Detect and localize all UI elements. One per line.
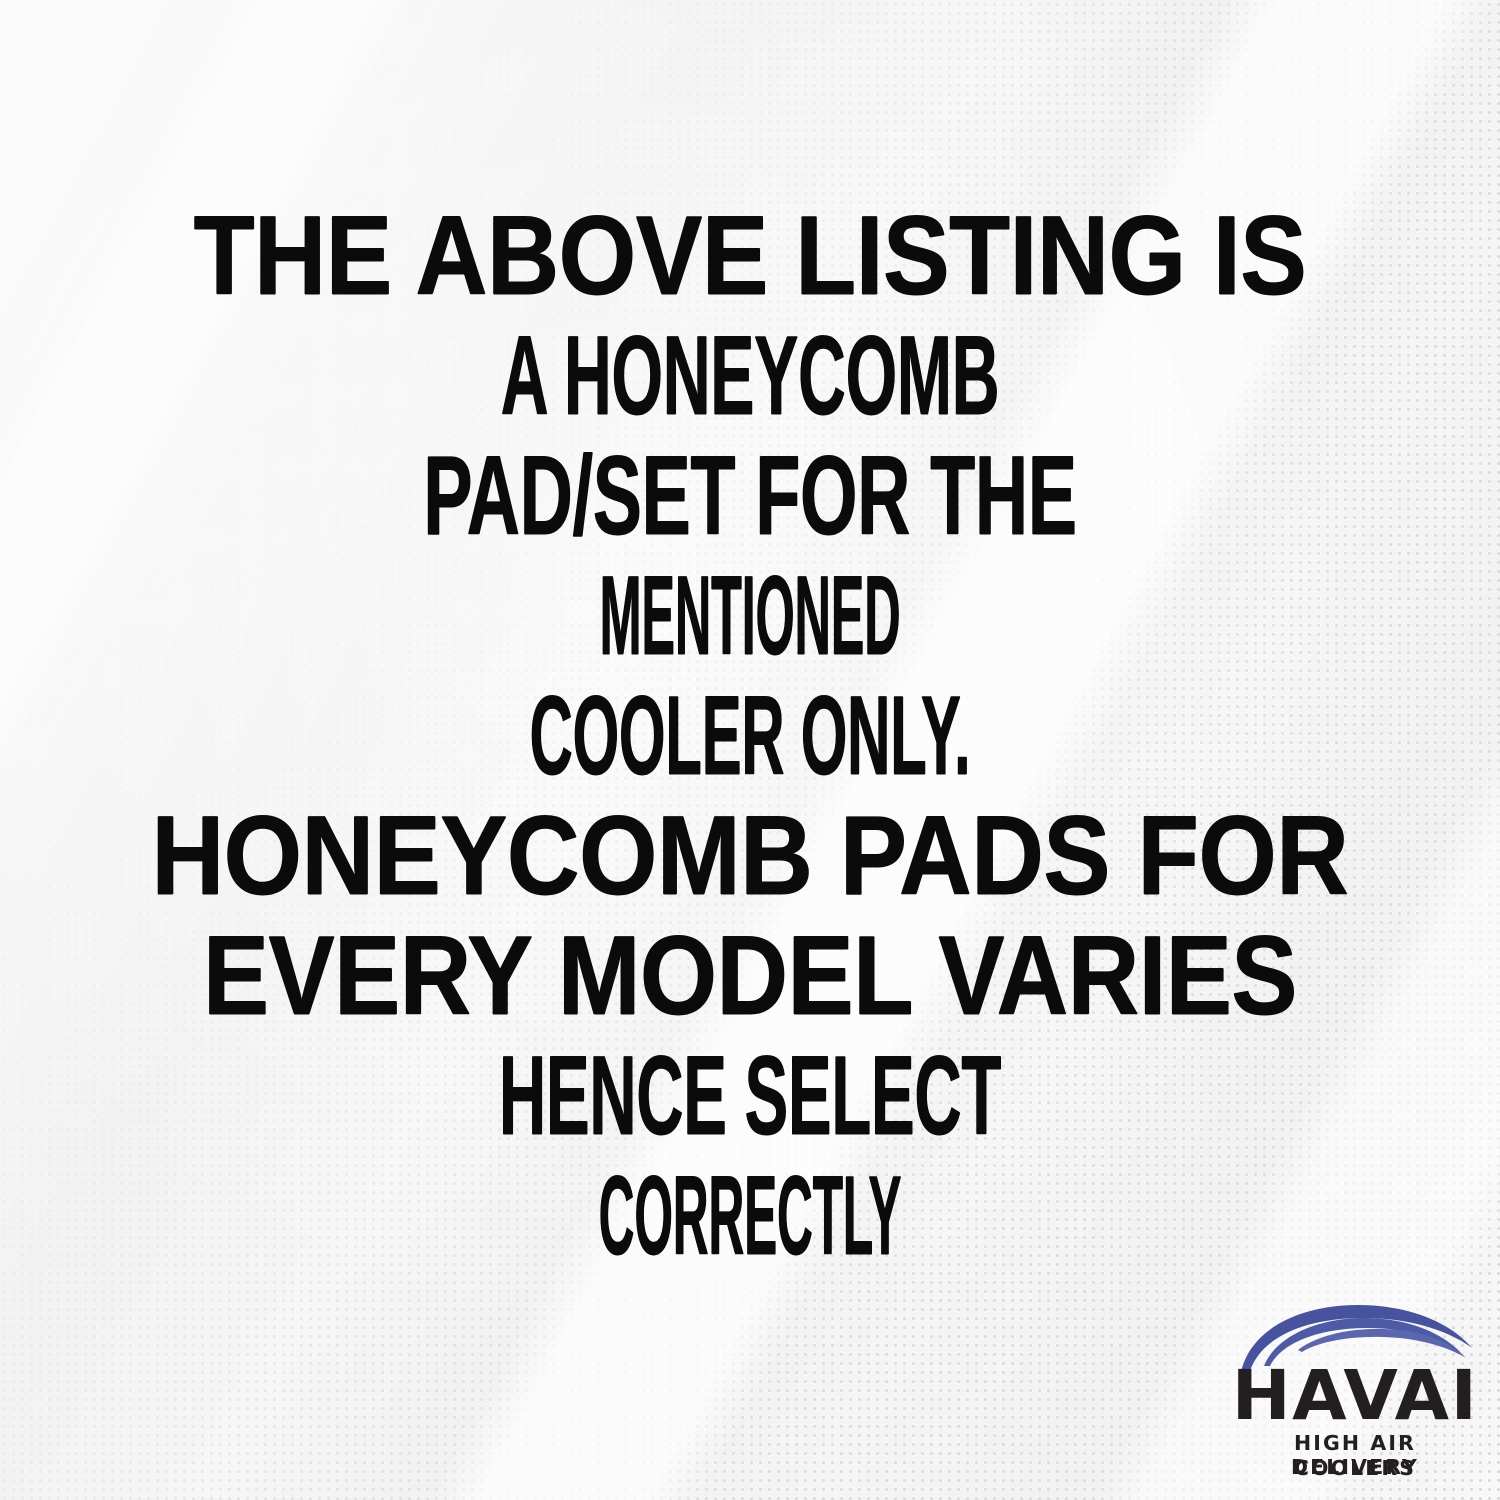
headline-line-8: HENCE SELECT (335, 1036, 1165, 1156)
headline-line-9: CORRECTLY (435, 1156, 1065, 1276)
headline-block: THE ABOVE LISTING IS A HONEYCOMB PAD/SET… (0, 196, 1500, 1276)
logo-tagline-line-2: COOLERS (1230, 1456, 1480, 1480)
headline-line-4: MENTIONED (430, 556, 1070, 676)
headline-line-2: A HONEYCOMB (330, 316, 1170, 436)
logo-wordmark: HAVAI (1228, 1360, 1483, 1432)
poster-canvas: THE ABOVE LISTING IS A HONEYCOMB PAD/SET… (0, 0, 1500, 1500)
havai-logo: HAVAI HIGH AIR DELIVERY COOLERS (1230, 1304, 1480, 1482)
headline-line-5: COOLER ONLY. (370, 676, 1130, 796)
headline-line-6: HONEYCOMB PADS FOR (112, 796, 1387, 916)
headline-line-7: EVERY MODEL VARIES (123, 916, 1378, 1036)
headline-line-1: THE ABOVE LISTING IS (118, 196, 1383, 316)
headline-line-3: PAD/SET FOR THE (282, 436, 1217, 556)
